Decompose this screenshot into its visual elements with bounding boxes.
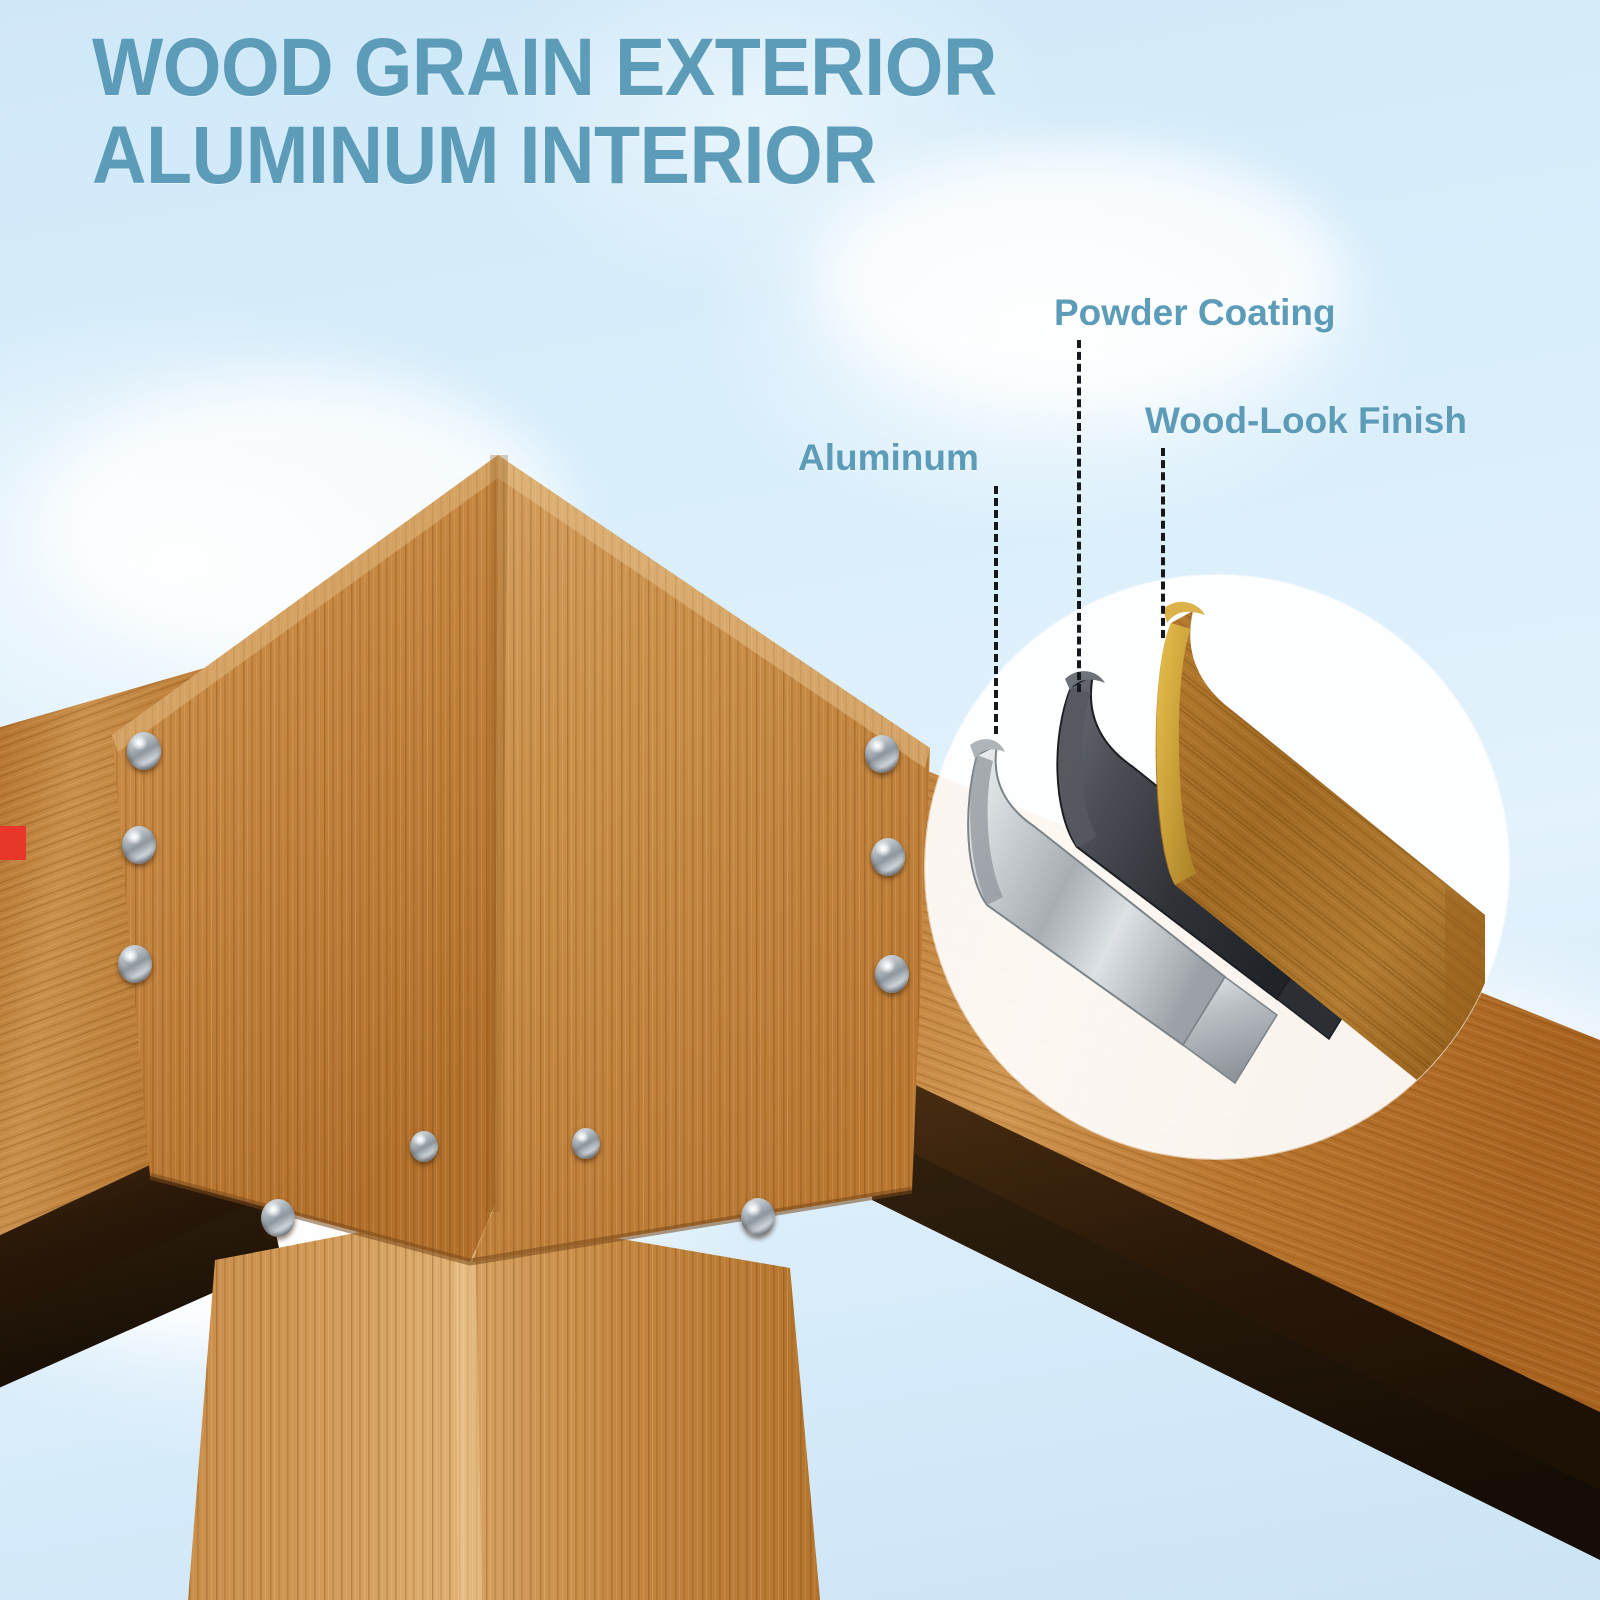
pergola-post [188,1212,820,1600]
bracket-cap-right [472,455,930,1262]
dashed-line-wood-look-finish [1161,448,1165,638]
callout-label-wood-look-finish: Wood-Look Finish [1145,400,1467,442]
cross-section-layers [925,575,1509,1159]
bolt-head [118,945,152,983]
bolt-head [261,1199,295,1237]
callout-label-aluminum: Aluminum [798,437,979,479]
dashed-line-powder-coating [1077,340,1081,692]
product-feature-image: WOOD GRAIN EXTERIORALUMINUM INTERIOR [0,0,1600,1600]
callout-label-powder-coating: Powder Coating [1054,292,1336,334]
bolt-head [741,1198,775,1236]
dashed-line-aluminum [994,486,998,734]
bolt-head [410,1131,438,1162]
cross-section-magnifier [925,575,1509,1159]
bolt-head [572,1128,600,1159]
bolt-head [875,955,909,993]
bolt-head [871,838,905,876]
bolt-head [865,735,899,773]
red-marker-tab [0,826,26,860]
bracket-cap-left [112,455,498,1262]
bolt-head [127,732,161,770]
bolt-head [122,826,156,864]
